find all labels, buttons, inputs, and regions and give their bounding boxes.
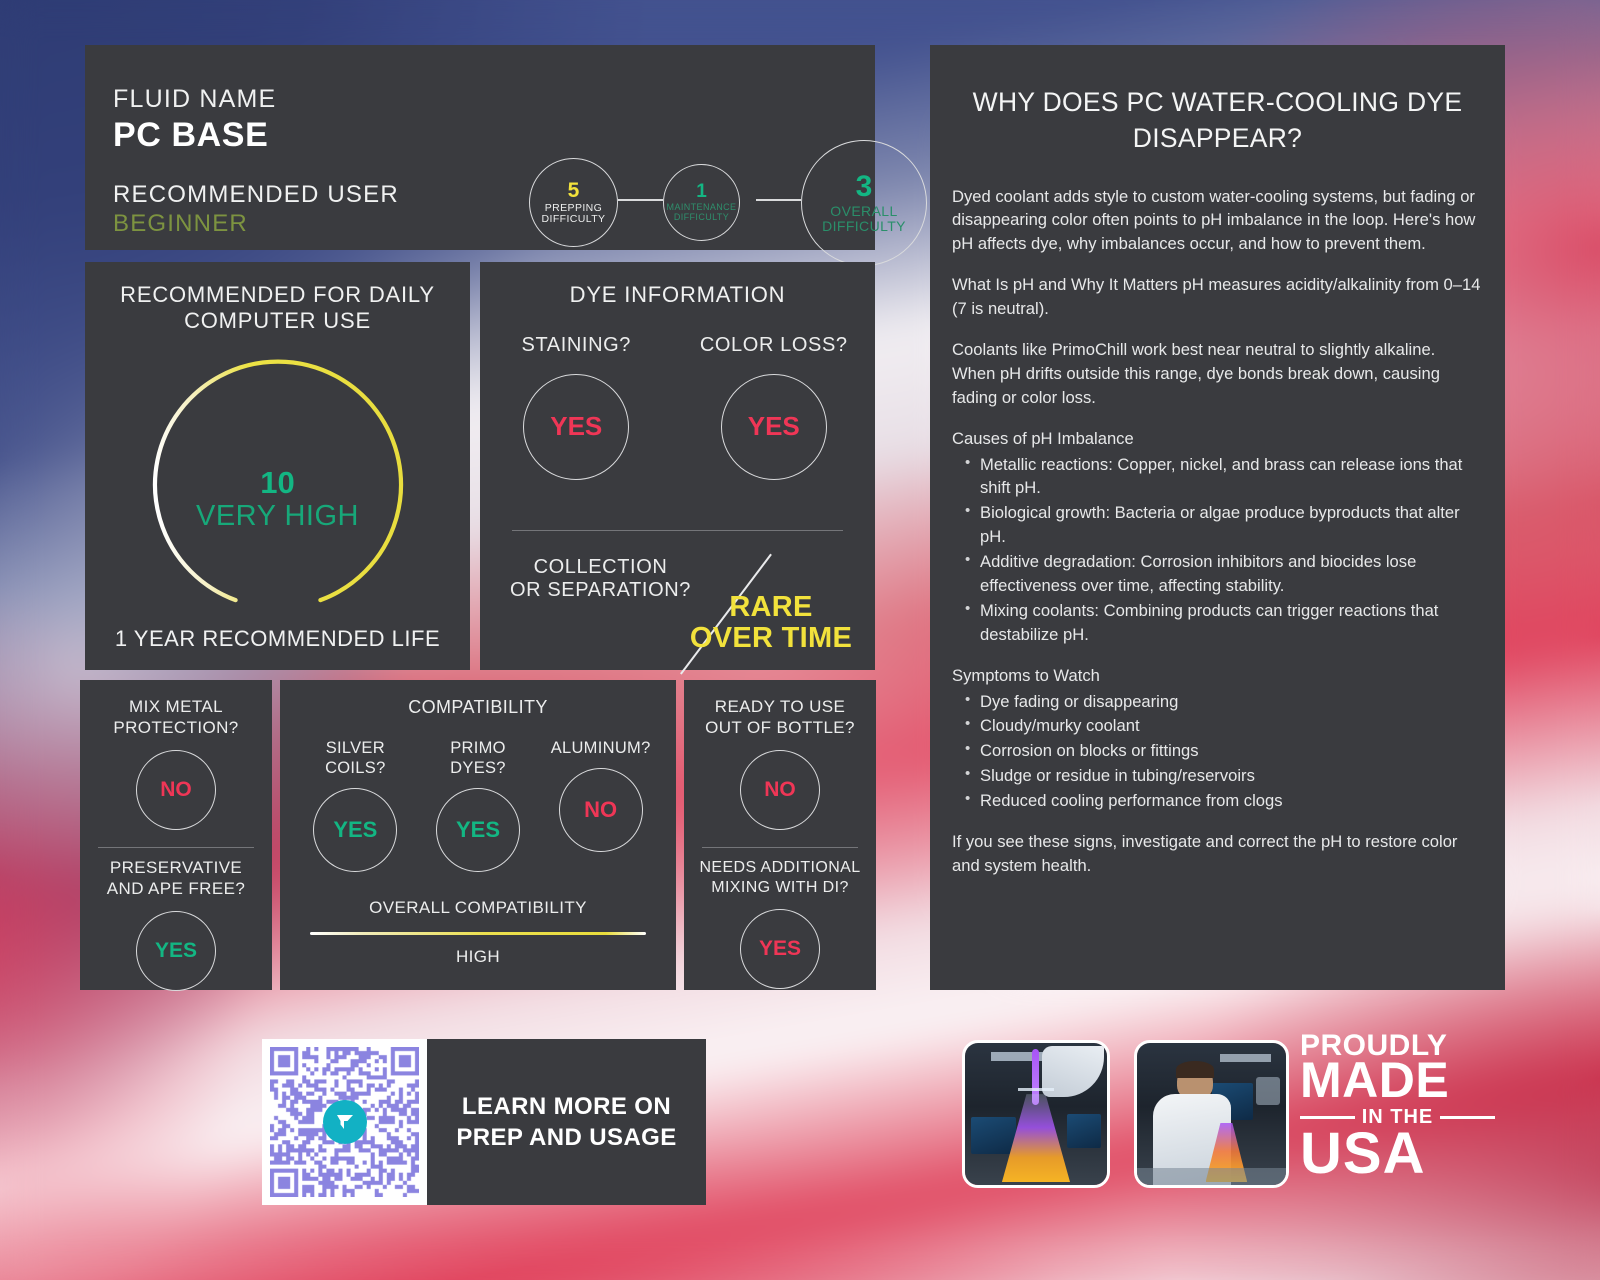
ready-to-use-panel: READY TO USE OUT OF BOTTLE? NO NEEDS ADD…: [684, 680, 876, 990]
collection-separation-group: COLLECTION OR SEPARATION? RARE OVER TIME: [480, 544, 875, 670]
overall-compatibility-value: HIGH: [280, 947, 676, 968]
usa-badge-rule-right: [1440, 1116, 1495, 1119]
staining-group: STAINING? YES: [494, 334, 659, 480]
daily-use-title-line1: RECOMMENDED FOR DAILY: [85, 282, 470, 308]
list-item: Corrosion on blocks or fittings: [952, 739, 1483, 763]
ready-to-use-answer: NO: [764, 778, 796, 802]
color-loss-label: COLOR LOSS?: [686, 334, 861, 357]
lab-photo-2-hair: [1176, 1061, 1215, 1078]
list-item: Biological growth: Bacteria or algae pro…: [952, 501, 1483, 549]
difficulty-value-overall: 3: [856, 172, 873, 202]
difficulty-node-maintenance: 1 MAINTENANCE DIFFICULTY: [663, 164, 740, 241]
list-item: Metallic reactions: Copper, nickel, and …: [952, 453, 1483, 501]
collection-label-line2: OR SEPARATION?: [498, 579, 703, 602]
staining-answer-circle: YES: [523, 374, 629, 480]
color-loss-group: COLOR LOSS? YES: [686, 334, 861, 480]
staining-answer: YES: [550, 411, 602, 442]
article-paragraph-2: What Is pH and Why It Matters pH measure…: [952, 273, 1483, 321]
article-causes-list: Metallic reactions: Copper, nickel, and …: [952, 453, 1483, 647]
compat-answer-silver-coils: YES: [333, 817, 377, 843]
difficulty-caption-maintenance-2: DIFFICULTY: [674, 213, 729, 223]
needs-mixing-answer: YES: [759, 937, 801, 961]
ready-to-use-answer-circle: NO: [740, 750, 820, 830]
compat-answer-circle-primo-dyes: YES: [436, 788, 520, 872]
qr-code-block[interactable]: [262, 1039, 427, 1205]
list-item: Sludge or residue in tubing/reservoirs: [952, 764, 1483, 788]
difficulty-cluster: 5 PREPPING DIFFICULTY 1 MAINTENANCE DIFF…: [525, 135, 945, 265]
usa-badge-made: MADE: [1300, 1058, 1495, 1103]
learn-more-line2: PREP AND USAGE: [456, 1122, 676, 1153]
list-item: Dye fading or disappearing: [952, 690, 1483, 714]
recommended-life-text: 1 YEAR RECOMMENDED LIFE: [85, 626, 470, 652]
article-title-line2: DISAPPEAR?: [952, 121, 1483, 157]
gauge-value: 10: [128, 467, 428, 498]
usa-badge-usa: USA: [1300, 1127, 1495, 1180]
dye-panel-divider: [512, 530, 843, 531]
ready-to-use-label-line1: READY TO USE: [684, 697, 876, 718]
mix-panel-divider: [98, 847, 254, 848]
preservative-label-line1: PRESERVATIVE: [80, 858, 272, 879]
article-closing-paragraph: If you see these signs, investigate and …: [952, 830, 1483, 878]
compatibility-title: COMPATIBILITY: [280, 697, 676, 719]
article-title-line1: WHY DOES PC WATER-COOLING DYE: [952, 85, 1483, 121]
lab-photo-1-monitor: [971, 1117, 1016, 1154]
compat-item-aluminum: ALUMINUM? NO: [545, 738, 657, 872]
ready-to-use-label-line2: OUT OF BOTTLE?: [684, 718, 876, 739]
difficulty-value-maintenance: 1: [696, 182, 707, 201]
list-item: Reduced cooling performance from clogs: [952, 789, 1483, 813]
lab-photo-1-flask-rim: [1018, 1088, 1055, 1091]
lab-photo-2-ceiling-light: [1220, 1054, 1271, 1062]
daily-use-panel: RECOMMENDED FOR DAILY COMPUTER USE 10 VE…: [85, 262, 470, 670]
dye-information-title: DYE INFORMATION: [480, 282, 875, 308]
compat-answer-primo-dyes: YES: [456, 817, 500, 843]
difficulty-node-overall: 3 OVERALL DIFFICULTY: [801, 140, 927, 266]
mix-metal-answer-circle: NO: [136, 750, 216, 830]
difficulty-link-2: [756, 199, 801, 201]
compat-label-aluminum: ALUMINUM?: [545, 738, 657, 758]
daily-use-title-line2: COMPUTER USE: [85, 308, 470, 334]
fluid-header-panel: FLUID NAME PC BASE RECOMMENDED USER BEGI…: [85, 45, 875, 250]
needs-mixing-answer-circle: YES: [740, 909, 820, 989]
primochill-logo-icon: [323, 1100, 367, 1144]
needs-mixing-label-line1: NEEDS ADDITIONAL: [684, 858, 876, 878]
logo-glyph-icon: [333, 1110, 357, 1134]
compat-item-silver-coils: SILVER COILS? YES: [299, 738, 411, 872]
difficulty-node-prepping: 5 PREPPING DIFFICULTY: [529, 158, 618, 247]
compat-answer-aluminum: NO: [584, 797, 617, 823]
gauge-readout: 10 VERY HIGH: [128, 467, 428, 533]
recommended-user-value: BEGINNER: [113, 210, 399, 238]
color-loss-answer: YES: [748, 411, 800, 442]
compat-label-silver-coils: SILVER COILS?: [299, 738, 411, 778]
list-item: Cloudy/murky coolant: [952, 714, 1483, 738]
lab-photo-2-shelf-bottles: [1256, 1077, 1280, 1105]
preservative-answer: YES: [155, 939, 197, 963]
compat-item-primo-dyes: PRIMO DYES? YES: [422, 738, 534, 872]
overall-compatibility-bar: [310, 932, 646, 935]
daily-use-gauge: 10 VERY HIGH: [128, 359, 428, 614]
preservative-label-line2: AND APE FREE?: [80, 879, 272, 900]
lab-photo-scientist: [1134, 1040, 1289, 1188]
learn-more-line1: LEARN MORE ON: [456, 1091, 676, 1122]
article-paragraph-1: Dyed coolant adds style to custom water-…: [952, 185, 1483, 257]
compat-label-primo-dyes: PRIMO DYES?: [422, 738, 534, 778]
list-item: Mixing coolants: Combining products can …: [952, 599, 1483, 647]
collection-answer-line1: RARE: [681, 592, 861, 623]
mix-metal-label-line2: PROTECTION?: [80, 718, 272, 739]
article-causes-heading: Causes of pH Imbalance: [952, 427, 1483, 451]
staining-label: STAINING?: [494, 334, 659, 357]
difficulty-caption-prepping-2: DIFFICULTY: [542, 214, 606, 225]
lab-photo-2-bench: [1137, 1168, 1286, 1185]
mix-metal-answer: NO: [160, 778, 192, 802]
color-loss-answer-circle: YES: [721, 374, 827, 480]
article-paragraph-3: Coolants like PrimoChill work best near …: [952, 338, 1483, 410]
article-body: Dyed coolant adds style to custom water-…: [952, 185, 1483, 878]
dye-information-panel: DYE INFORMATION STAINING? YES COLOR LOSS…: [480, 262, 875, 670]
compat-answer-circle-aluminum: NO: [559, 768, 643, 852]
needs-mixing-label-line2: MIXING WITH DI?: [684, 878, 876, 898]
difficulty-value-prepping: 5: [568, 180, 580, 201]
fluid-name-value: PC BASE: [113, 116, 399, 155]
learn-more-text: LEARN MORE ON PREP AND USAGE: [456, 1091, 676, 1153]
lab-photo-pouring-dye: [962, 1040, 1110, 1188]
learn-more-panel[interactable]: LEARN MORE ON PREP AND USAGE: [427, 1039, 706, 1205]
gauge-word: VERY HIGH: [128, 500, 428, 533]
article-symptoms-list: Dye fading or disappearing Cloudy/murky …: [952, 690, 1483, 813]
difficulty-caption-overall-2: DIFFICULTY: [822, 219, 906, 234]
list-item: Additive degradation: Corrosion inhibito…: [952, 550, 1483, 598]
collection-label-line1: COLLECTION: [498, 556, 703, 579]
lab-photo-1-monitor-2: [1067, 1114, 1101, 1148]
usa-badge-rule-left: [1300, 1116, 1355, 1119]
ready-panel-divider: [702, 847, 858, 848]
article-symptoms-heading: Symptoms to Watch: [952, 664, 1483, 688]
mix-metal-panel: MIX METAL PROTECTION? NO PRESERVATIVE AN…: [80, 680, 272, 990]
difficulty-caption-overall-1: OVERALL: [830, 204, 897, 219]
article-panel: WHY DOES PC WATER-COOLING DYE DISAPPEAR?…: [930, 45, 1505, 990]
recommended-user-label: RECOMMENDED USER: [113, 181, 399, 209]
compat-answer-circle-silver-coils: YES: [313, 788, 397, 872]
difficulty-link-1: [618, 199, 663, 201]
overall-compatibility-label: OVERALL COMPATIBILITY: [280, 898, 676, 919]
mix-metal-label-line1: MIX METAL: [80, 697, 272, 718]
preservative-answer-circle: YES: [136, 911, 216, 991]
collection-answer-line2: OVER TIME: [681, 623, 861, 654]
fluid-name-label: FLUID NAME: [113, 85, 399, 114]
compatibility-panel: COMPATIBILITY SILVER COILS? YES PRIMO DY…: [280, 680, 676, 990]
made-in-usa-badge: PROUDLY MADE IN THE USA: [1300, 1032, 1495, 1197]
